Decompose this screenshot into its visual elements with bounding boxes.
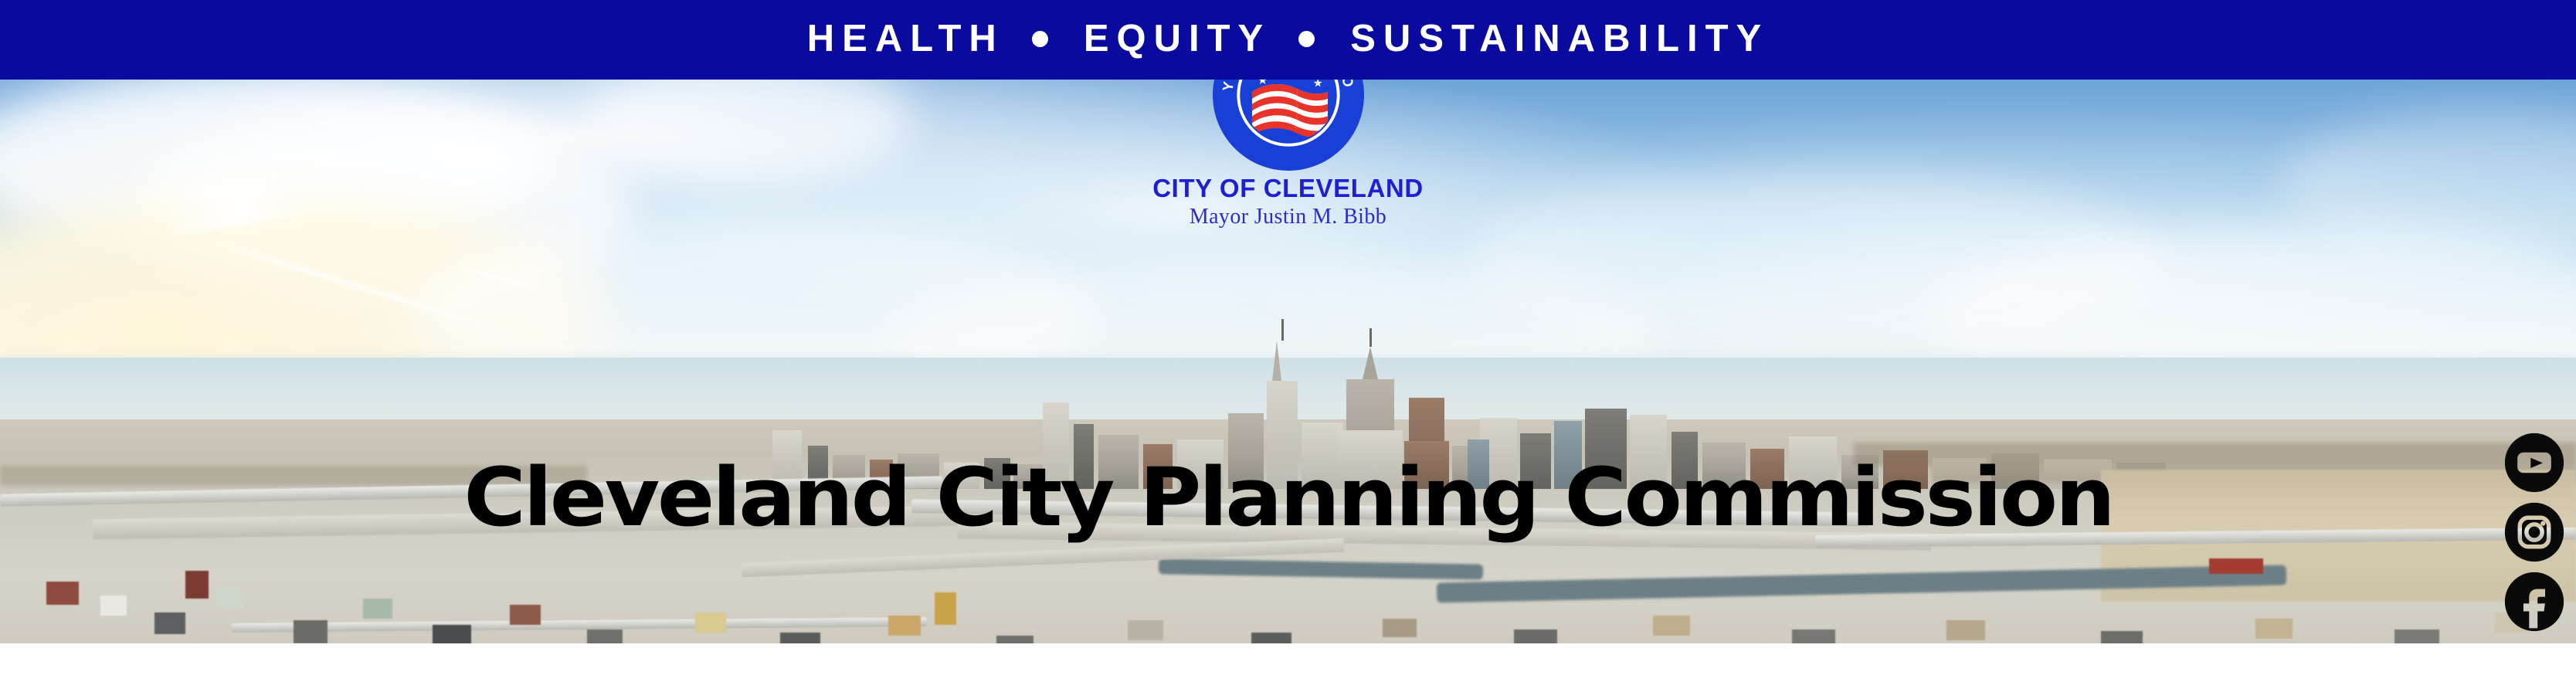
- building-block: [1792, 629, 1835, 643]
- building-block: [154, 612, 185, 634]
- building: [1520, 433, 1551, 489]
- youtube-icon[interactable]: [2504, 433, 2564, 493]
- social-links: [2504, 433, 2564, 632]
- building: [1098, 435, 1139, 489]
- building-block: [363, 599, 392, 619]
- terminal-tower-spire: [1272, 341, 1281, 381]
- building-block: [2209, 558, 2263, 574]
- page-bottom-strip: [0, 643, 2576, 682]
- building: [1177, 439, 1224, 489]
- building-block: [294, 620, 328, 643]
- building: [1228, 413, 1264, 489]
- building-block: [1946, 620, 1985, 640]
- building: [1468, 439, 1489, 489]
- building: [1143, 444, 1173, 489]
- church-spire: [185, 571, 209, 599]
- building-block: [1383, 619, 1417, 637]
- youtube-link[interactable]: [2504, 433, 2564, 493]
- hero-photo: [0, 80, 2576, 643]
- tagline-banner: HEALTH EQUITY SUSTAINABILITY: [0, 0, 2576, 80]
- tagline-word-sustainability: SUSTAINABILITY: [1350, 20, 1769, 58]
- key-tower-base: [1338, 430, 1403, 489]
- building-block: [2394, 629, 2439, 643]
- building-block: [216, 589, 244, 608]
- building: [1074, 424, 1094, 489]
- building-block: [888, 616, 921, 636]
- building: [1302, 422, 1343, 489]
- terminal-tower-antenna: [1281, 319, 1284, 341]
- building-block: [1514, 629, 1557, 643]
- tagline-bullet-icon-1: [1032, 31, 1048, 47]
- building-block: [433, 625, 471, 643]
- terminal-tower: [1267, 381, 1298, 489]
- facebook-icon[interactable]: [2504, 572, 2564, 632]
- downtown-skyline: [1035, 334, 1668, 489]
- page-root: HEALTH EQUITY SUSTAINABILITY: [0, 0, 2576, 682]
- tagline-banner-inner: HEALTH EQUITY SUSTAINABILITY: [807, 20, 1769, 58]
- building-block: [1251, 633, 1291, 643]
- building-block: [2255, 619, 2293, 639]
- building-block: [695, 612, 726, 633]
- instagram-link[interactable]: [2504, 502, 2564, 562]
- building-block: [1128, 620, 1163, 640]
- key-tower-antenna: [1369, 328, 1372, 347]
- building: [1043, 402, 1069, 489]
- building-block: [2101, 631, 2143, 643]
- tagline-word-health: HEALTH: [807, 20, 1004, 58]
- building-block: [780, 633, 820, 643]
- key-tower-spire: [1363, 347, 1378, 379]
- facebook-link[interactable]: [2504, 572, 2564, 632]
- building: [1585, 409, 1627, 489]
- building: [1554, 421, 1582, 489]
- building-block: [100, 595, 127, 616]
- church-spire: [935, 592, 956, 625]
- tagline-bullet-icon-2: [1298, 31, 1315, 47]
- building-block: [510, 605, 541, 625]
- instagram-icon[interactable]: [2504, 502, 2564, 562]
- terrain-band: [0, 466, 587, 486]
- building-block: [46, 582, 79, 605]
- building: [1404, 441, 1449, 489]
- terrain-band: [1854, 443, 2576, 466]
- building-block: [587, 629, 623, 643]
- building-block: [996, 636, 1033, 643]
- tagline-word-equity: EQUITY: [1084, 20, 1271, 58]
- building-block: [1653, 616, 1690, 636]
